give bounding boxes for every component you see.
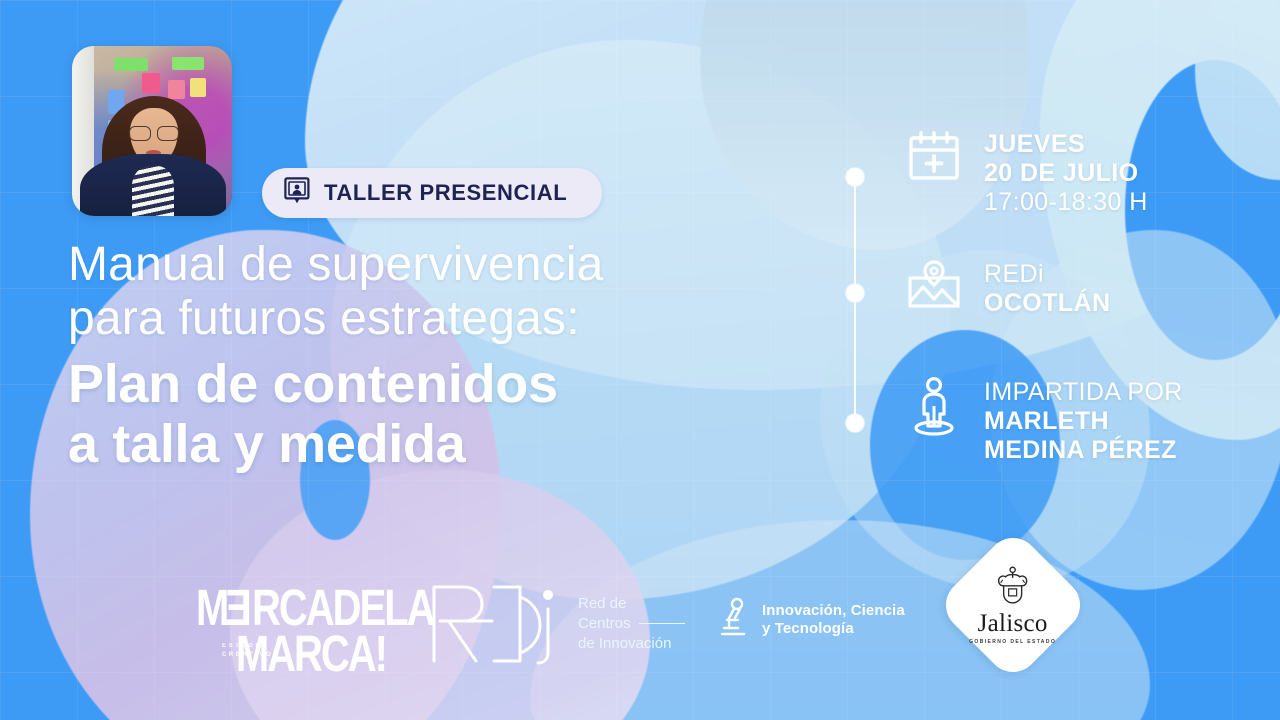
redi-text-line-2: Centros <box>578 614 685 634</box>
title-line-4: a talla y medida <box>68 414 768 474</box>
info-location: REDi OCOTLÁN <box>906 258 1110 319</box>
mercadelamarca-tagline: ESTUDIO CREATIVO <box>222 642 273 660</box>
info-location-lines: REDi OCOTLÁN <box>984 258 1110 318</box>
portrait-striped-shirt <box>132 166 174 216</box>
timeline-connector <box>845 168 865 436</box>
info-date-lines: JUEVES 20 DE JULIO 17:00-18:30 H <box>984 128 1148 217</box>
map-pin-icon <box>906 258 962 319</box>
jalisco-wordmark: Jalisco <box>961 611 1065 637</box>
speaker-last-name: MEDINA PÉREZ <box>984 436 1183 465</box>
poster-title: Manual de supervivencia para futuros est… <box>68 238 768 474</box>
ict-line-2: y Tecnología <box>762 620 905 638</box>
ict-wordmark: Innovación, Ciencia y Tecnología <box>762 602 905 638</box>
redi-divider-rule <box>639 623 685 625</box>
sticky-note <box>114 58 148 71</box>
jalisco-subtitle: GOBIERNO DEL ESTADO <box>961 639 1065 645</box>
redi-text-line-3: de Innovación <box>578 634 685 654</box>
title-line-3: Plan de contenidos <box>68 354 768 414</box>
sticky-note <box>168 80 185 99</box>
sticky-note <box>190 78 206 97</box>
logo-mercadelamarca: MERCADELA MARCA! ESTUDIO CREATIVO <box>196 574 386 670</box>
badge-label: TALLER PRESENCIAL <box>324 180 567 206</box>
presentation-person-icon <box>284 177 310 210</box>
person-podium-icon <box>906 376 962 441</box>
timeline-dot <box>846 414 864 432</box>
poster-canvas: TALLER PRESENCIAL Manual de supervivenci… <box>0 0 1280 720</box>
background-blob-right-cutout <box>1125 60 1280 360</box>
date-time-range: 17:00-18:30 H <box>984 188 1148 217</box>
timeline-dot <box>846 168 864 186</box>
jalisco-coat-of-arms-icon <box>990 593 1036 610</box>
info-speaker-lines: IMPARTIDA POR MARLETH MEDINA PÉREZ <box>984 376 1183 465</box>
background-blob-corner <box>1195 0 1280 180</box>
redi-text-line-1: Red de <box>578 594 685 614</box>
redi-line-2-text: Centros <box>578 614 631 634</box>
title-line-1: Manual de supervivencia <box>68 238 768 292</box>
background-blob-right-swirl <box>1040 0 1280 440</box>
redi-line-3-text: de Innovación <box>578 634 671 654</box>
logo-redi: Red de Centros de Innovación <box>424 573 685 674</box>
logo-jalisco: Jalisco GOBIERNO DEL ESTADO <box>935 527 1091 683</box>
date-day-month: 20 DE JULIO <box>984 159 1148 188</box>
microscope-icon <box>716 597 750 642</box>
title-line-2: para futuros estrategas: <box>68 292 768 346</box>
tagline-line-2: CREATIVO <box>222 651 273 660</box>
calendar-plus-icon <box>906 128 962 189</box>
location-city: OCOTLÁN <box>984 289 1110 318</box>
logo-letter-m: M <box>196 580 227 636</box>
portrait-glasses <box>128 126 180 139</box>
timeline-dot <box>846 284 864 302</box>
info-date: JUEVES 20 DE JULIO 17:00-18:30 H <box>906 128 1148 217</box>
speaker-portrait <box>72 46 232 216</box>
workshop-type-badge: TALLER PRESENCIAL <box>262 168 602 218</box>
redi-line-1-text: Red de <box>578 594 626 614</box>
redi-wordmark: Red de Centros de Innovación <box>578 594 685 654</box>
info-speaker: IMPARTIDA POR MARLETH MEDINA PÉREZ <box>906 376 1183 465</box>
sticky-note <box>142 73 160 93</box>
date-weekday: JUEVES <box>984 130 1148 159</box>
logo-innovacion-ciencia-tecnologia: Innovación, Ciencia y Tecnología <box>716 597 905 642</box>
tagline-line-1: ESTUDIO <box>222 642 273 651</box>
location-name: REDi <box>984 260 1110 289</box>
sticky-note <box>172 57 204 70</box>
redi-monogram-icon <box>424 573 564 674</box>
ict-line-1: Innovación, Ciencia <box>762 602 905 620</box>
jalisco-inner: Jalisco GOBIERNO DEL ESTADO <box>961 566 1065 645</box>
speaker-first-name: MARLETH <box>984 407 1183 436</box>
footer-logos: MERCADELA MARCA! ESTUDIO CREATIVO <box>0 558 1280 678</box>
speaker-prefix: IMPARTIDA POR <box>984 378 1183 407</box>
timeline-line <box>854 176 856 428</box>
